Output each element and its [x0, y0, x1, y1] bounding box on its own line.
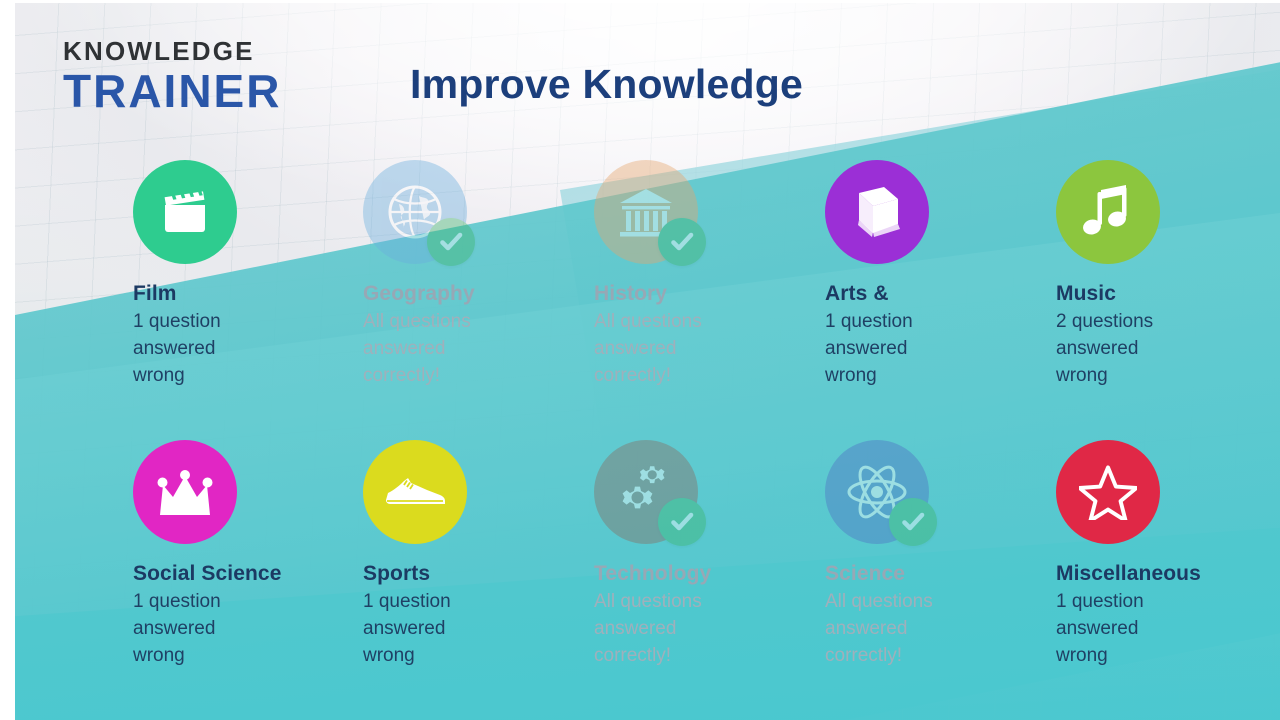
category-card-social-science[interactable]: Social Science1 question answered wrong	[133, 440, 353, 670]
category-card-film[interactable]: Film1 question answered wrong	[133, 160, 353, 390]
category-card-arts[interactable]: Arts &1 question answered wrong	[825, 160, 1045, 390]
category-label: Arts &	[825, 282, 1045, 305]
category-icon-wrap	[133, 440, 237, 544]
category-card-miscellaneous[interactable]: Miscellaneous1 question answered wrong	[1056, 440, 1276, 670]
check-icon	[889, 498, 937, 546]
category-card-history[interactable]: HistoryAll questions answered correctly!	[594, 160, 814, 390]
category-row: Film1 question answered wrongGeographyAl…	[0, 160, 1280, 440]
app-screen: KNOWLEDGE TRAINER Improve Knowledge Film…	[0, 0, 1280, 720]
category-status: 1 question answered wrong	[363, 589, 489, 670]
category-label: History	[594, 282, 814, 305]
book-icon	[825, 160, 929, 264]
category-status: 1 question answered wrong	[825, 309, 951, 390]
sneaker-icon	[363, 440, 467, 544]
music-note-icon	[1056, 160, 1160, 264]
category-status: All questions answered correctly!	[594, 589, 712, 670]
check-icon	[658, 218, 706, 266]
category-status: All questions answered correctly!	[594, 309, 712, 390]
category-icon-wrap	[594, 440, 698, 544]
category-grid: Film1 question answered wrongGeographyAl…	[0, 160, 1280, 720]
category-label: Technology	[594, 562, 814, 585]
category-label: Sports	[363, 562, 583, 585]
category-status: 1 question answered wrong	[133, 309, 259, 390]
header: KNOWLEDGE TRAINER Improve Knowledge	[0, 0, 1280, 140]
page-title: Improve Knowledge	[410, 61, 930, 108]
category-status: All questions answered correctly!	[363, 309, 481, 390]
check-icon	[658, 498, 706, 546]
app-logo: KNOWLEDGE TRAINER	[63, 38, 281, 114]
category-icon-wrap	[594, 160, 698, 264]
category-status: 1 question answered wrong	[133, 589, 259, 670]
category-icon-wrap	[825, 160, 929, 264]
star-outline-icon	[1056, 440, 1160, 544]
category-label: Music	[1056, 282, 1276, 305]
category-card-music[interactable]: Music2 questions answered wrong	[1056, 160, 1276, 390]
category-label: Science	[825, 562, 1045, 585]
category-card-technology[interactable]: TechnologyAll questions answered correct…	[594, 440, 814, 670]
category-card-geography[interactable]: GeographyAll questions answered correctl…	[363, 160, 583, 390]
category-status: 1 question answered wrong	[1056, 589, 1182, 670]
category-icon-wrap	[133, 160, 237, 264]
logo-text-trainer: TRAINER	[63, 68, 281, 114]
clapperboard-icon	[133, 160, 237, 264]
category-status: All questions answered correctly!	[825, 589, 943, 670]
category-label: Geography	[363, 282, 583, 305]
logo-text-knowledge: KNOWLEDGE	[63, 38, 281, 64]
category-label: Miscellaneous	[1056, 562, 1276, 585]
category-icon-wrap	[1056, 160, 1160, 264]
category-label: Film	[133, 282, 353, 305]
crown-icon	[133, 440, 237, 544]
category-icon-wrap	[825, 440, 929, 544]
check-icon	[427, 218, 475, 266]
category-icon-wrap	[363, 440, 467, 544]
category-card-science[interactable]: ScienceAll questions answered correctly!	[825, 440, 1045, 670]
category-label: Social Science	[133, 562, 353, 585]
category-card-sports[interactable]: Sports1 question answered wrong	[363, 440, 583, 670]
category-icon-wrap	[1056, 440, 1160, 544]
category-icon-wrap	[363, 160, 467, 264]
category-row: Social Science1 question answered wrongS…	[0, 440, 1280, 720]
category-status: 2 questions answered wrong	[1056, 309, 1182, 390]
